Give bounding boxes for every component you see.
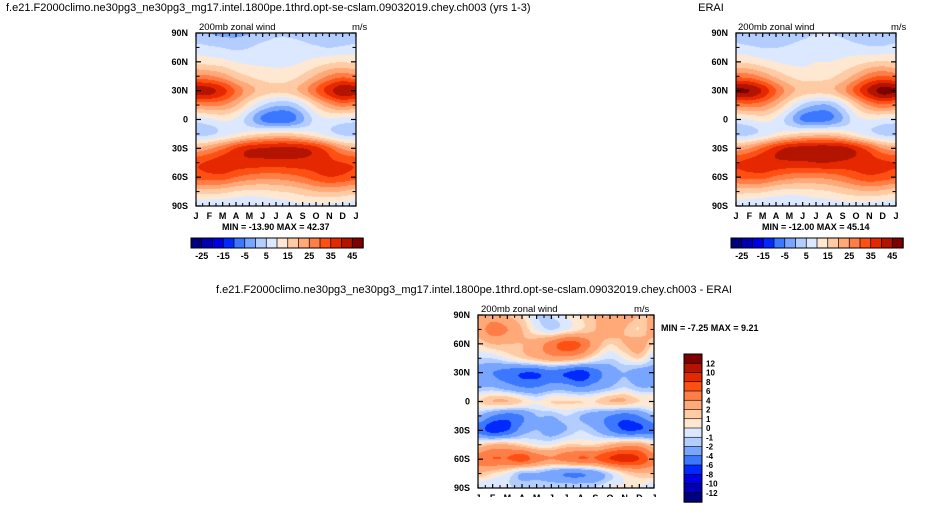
colorbar-tick-label: -25: [735, 251, 748, 261]
x-tick-label: A: [519, 493, 526, 497]
x-tick-label: S: [592, 493, 598, 497]
colorbar-tick-label: 45: [887, 251, 897, 261]
y-tick-label: 60N: [171, 57, 188, 67]
x-tick-label: D: [339, 211, 346, 221]
colorbar-tick-label: -6: [706, 461, 714, 470]
y-tick-label: 0: [465, 397, 470, 407]
colorbar-tick-label: -10: [706, 480, 718, 489]
x-tick-label: O: [312, 211, 319, 221]
y-tick-label: 90N: [453, 310, 470, 320]
y-tick-label: 90S: [172, 201, 188, 211]
x-tick-label: M: [786, 211, 794, 221]
y-tick-label: 90S: [454, 483, 470, 493]
colorbar-tick-label: 45: [347, 251, 357, 261]
panel-model-minmax: MIN = -13.90 MAX = 42.37: [222, 222, 330, 232]
x-tick-label: O: [606, 493, 613, 497]
colorbar-tick-label: 15: [283, 251, 293, 261]
x-tick-label: A: [577, 493, 584, 497]
y-tick-label: 60S: [172, 172, 188, 182]
x-tick-label: A: [773, 211, 780, 221]
y-tick-label: 0: [723, 115, 728, 125]
colorbar-tick-label: -25: [195, 251, 208, 261]
colorbar-tick-label: -12: [706, 489, 718, 498]
x-tick-label: S: [300, 211, 306, 221]
y-tick-label: 60N: [711, 57, 728, 67]
colorbar-tick-label: 6: [706, 387, 711, 396]
y-tick-label: 30N: [171, 86, 188, 96]
x-tick-label: M: [533, 493, 541, 497]
y-tick-label: 30N: [453, 368, 470, 378]
colorbar-tick-label: -15: [757, 251, 770, 261]
y-tick-label: 0: [183, 115, 188, 125]
x-tick-label: F: [747, 211, 753, 221]
x-tick-label: J: [651, 493, 656, 497]
x-tick-label: M: [246, 211, 254, 221]
x-tick-label: S: [840, 211, 846, 221]
x-tick-label: J: [353, 211, 358, 221]
y-tick-label: 90S: [712, 201, 728, 211]
x-tick-label: A: [826, 211, 833, 221]
x-tick-label: J: [733, 211, 738, 221]
x-tick-label: J: [813, 211, 818, 221]
colorbar-tick-label: -5: [781, 251, 789, 261]
colorbar-tick-label: 35: [866, 251, 876, 261]
colorbar-tick-label: 25: [844, 251, 854, 261]
panel-diff-colorbar: 1210864210-1-2-4-6-8-10-12: [680, 350, 800, 510]
colorbar-tick-label: 1: [706, 415, 711, 424]
colorbar-tick-label: 35: [326, 251, 336, 261]
y-tick-label: 60N: [453, 339, 470, 349]
colorbar-tick-label: -4: [706, 452, 714, 461]
colorbar-tick-label: 10: [706, 369, 715, 378]
x-tick-label: M: [759, 211, 767, 221]
x-tick-label: J: [273, 211, 278, 221]
colorbar-tick-label: 15: [823, 251, 833, 261]
x-tick-label: N: [866, 211, 873, 221]
x-tick-label: D: [879, 211, 886, 221]
y-tick-label: 60S: [712, 172, 728, 182]
colorbar-tick-label: 0: [706, 424, 711, 433]
panel-diff-minmax: MIN = -7.25 MAX = 9.21: [661, 323, 759, 333]
colorbar-tick-label: -8: [706, 470, 714, 479]
colorbar-tick-label: -15: [217, 251, 230, 261]
colorbar-tick-label: 5: [804, 251, 809, 261]
panel-obs-plot: JFMAMJJASONDJ90N60N30N030S60S90S: [474, 0, 948, 230]
x-tick-label: D: [636, 493, 643, 497]
panel-obs-minmax: MIN = -12.00 MAX = 45.14: [762, 222, 870, 232]
colorbar-tick-label: 8: [706, 378, 711, 387]
colorbar-tick-label: 25: [304, 251, 314, 261]
y-tick-label: 90N: [711, 28, 728, 38]
colorbar-tick-label: -2: [706, 443, 714, 452]
panel-diff-plot: JFMAMJJASONDJ90N60N30N030S60S90S: [0, 282, 948, 497]
x-tick-label: A: [233, 211, 240, 221]
x-tick-label: J: [260, 211, 265, 221]
x-tick-label: J: [549, 493, 554, 497]
colorbar-tick-label: -1: [706, 433, 714, 442]
x-tick-label: J: [193, 211, 198, 221]
colorbar-tick-label: 12: [706, 359, 715, 368]
x-tick-label: M: [504, 493, 512, 497]
x-tick-label: N: [621, 493, 628, 497]
x-tick-label: M: [219, 211, 227, 221]
colorbar-tick-label: 2: [706, 406, 711, 415]
panel-model-plot: JFMAMJJASONDJ90N60N30N030S60S90S: [0, 0, 474, 230]
x-tick-label: J: [563, 493, 568, 497]
y-tick-label: 60S: [454, 454, 470, 464]
x-tick-label: J: [893, 211, 898, 221]
panel-model: f.e21.F2000climo.ne30pg3_ne30pg3_mg17.in…: [0, 0, 474, 270]
colorbar-tick-label: -5: [241, 251, 249, 261]
colorbar-tick-label: 5: [264, 251, 269, 261]
panel-diff: f.e21.F2000climo.ne30pg3_ne30pg3_mg17.in…: [0, 282, 948, 513]
y-tick-label: 30S: [712, 143, 728, 153]
panel-model-colorbar: -25-15-5515253545: [0, 236, 474, 266]
x-tick-label: O: [852, 211, 859, 221]
colorbar-tick-label: 4: [706, 396, 711, 405]
x-tick-label: J: [800, 211, 805, 221]
x-tick-label: F: [207, 211, 213, 221]
y-tick-label: 30S: [172, 143, 188, 153]
x-tick-label: F: [490, 493, 496, 497]
panel-obs: ERAI 200mb zonal wind m/s JFMAMJJASONDJ9…: [474, 0, 948, 270]
y-tick-label: 90N: [171, 28, 188, 38]
panel-obs-colorbar: -25-15-5515253545: [474, 236, 948, 266]
y-tick-label: 30S: [454, 425, 470, 435]
x-tick-label: J: [475, 493, 480, 497]
x-tick-label: A: [286, 211, 293, 221]
x-tick-label: N: [326, 211, 333, 221]
y-tick-label: 30N: [711, 86, 728, 96]
